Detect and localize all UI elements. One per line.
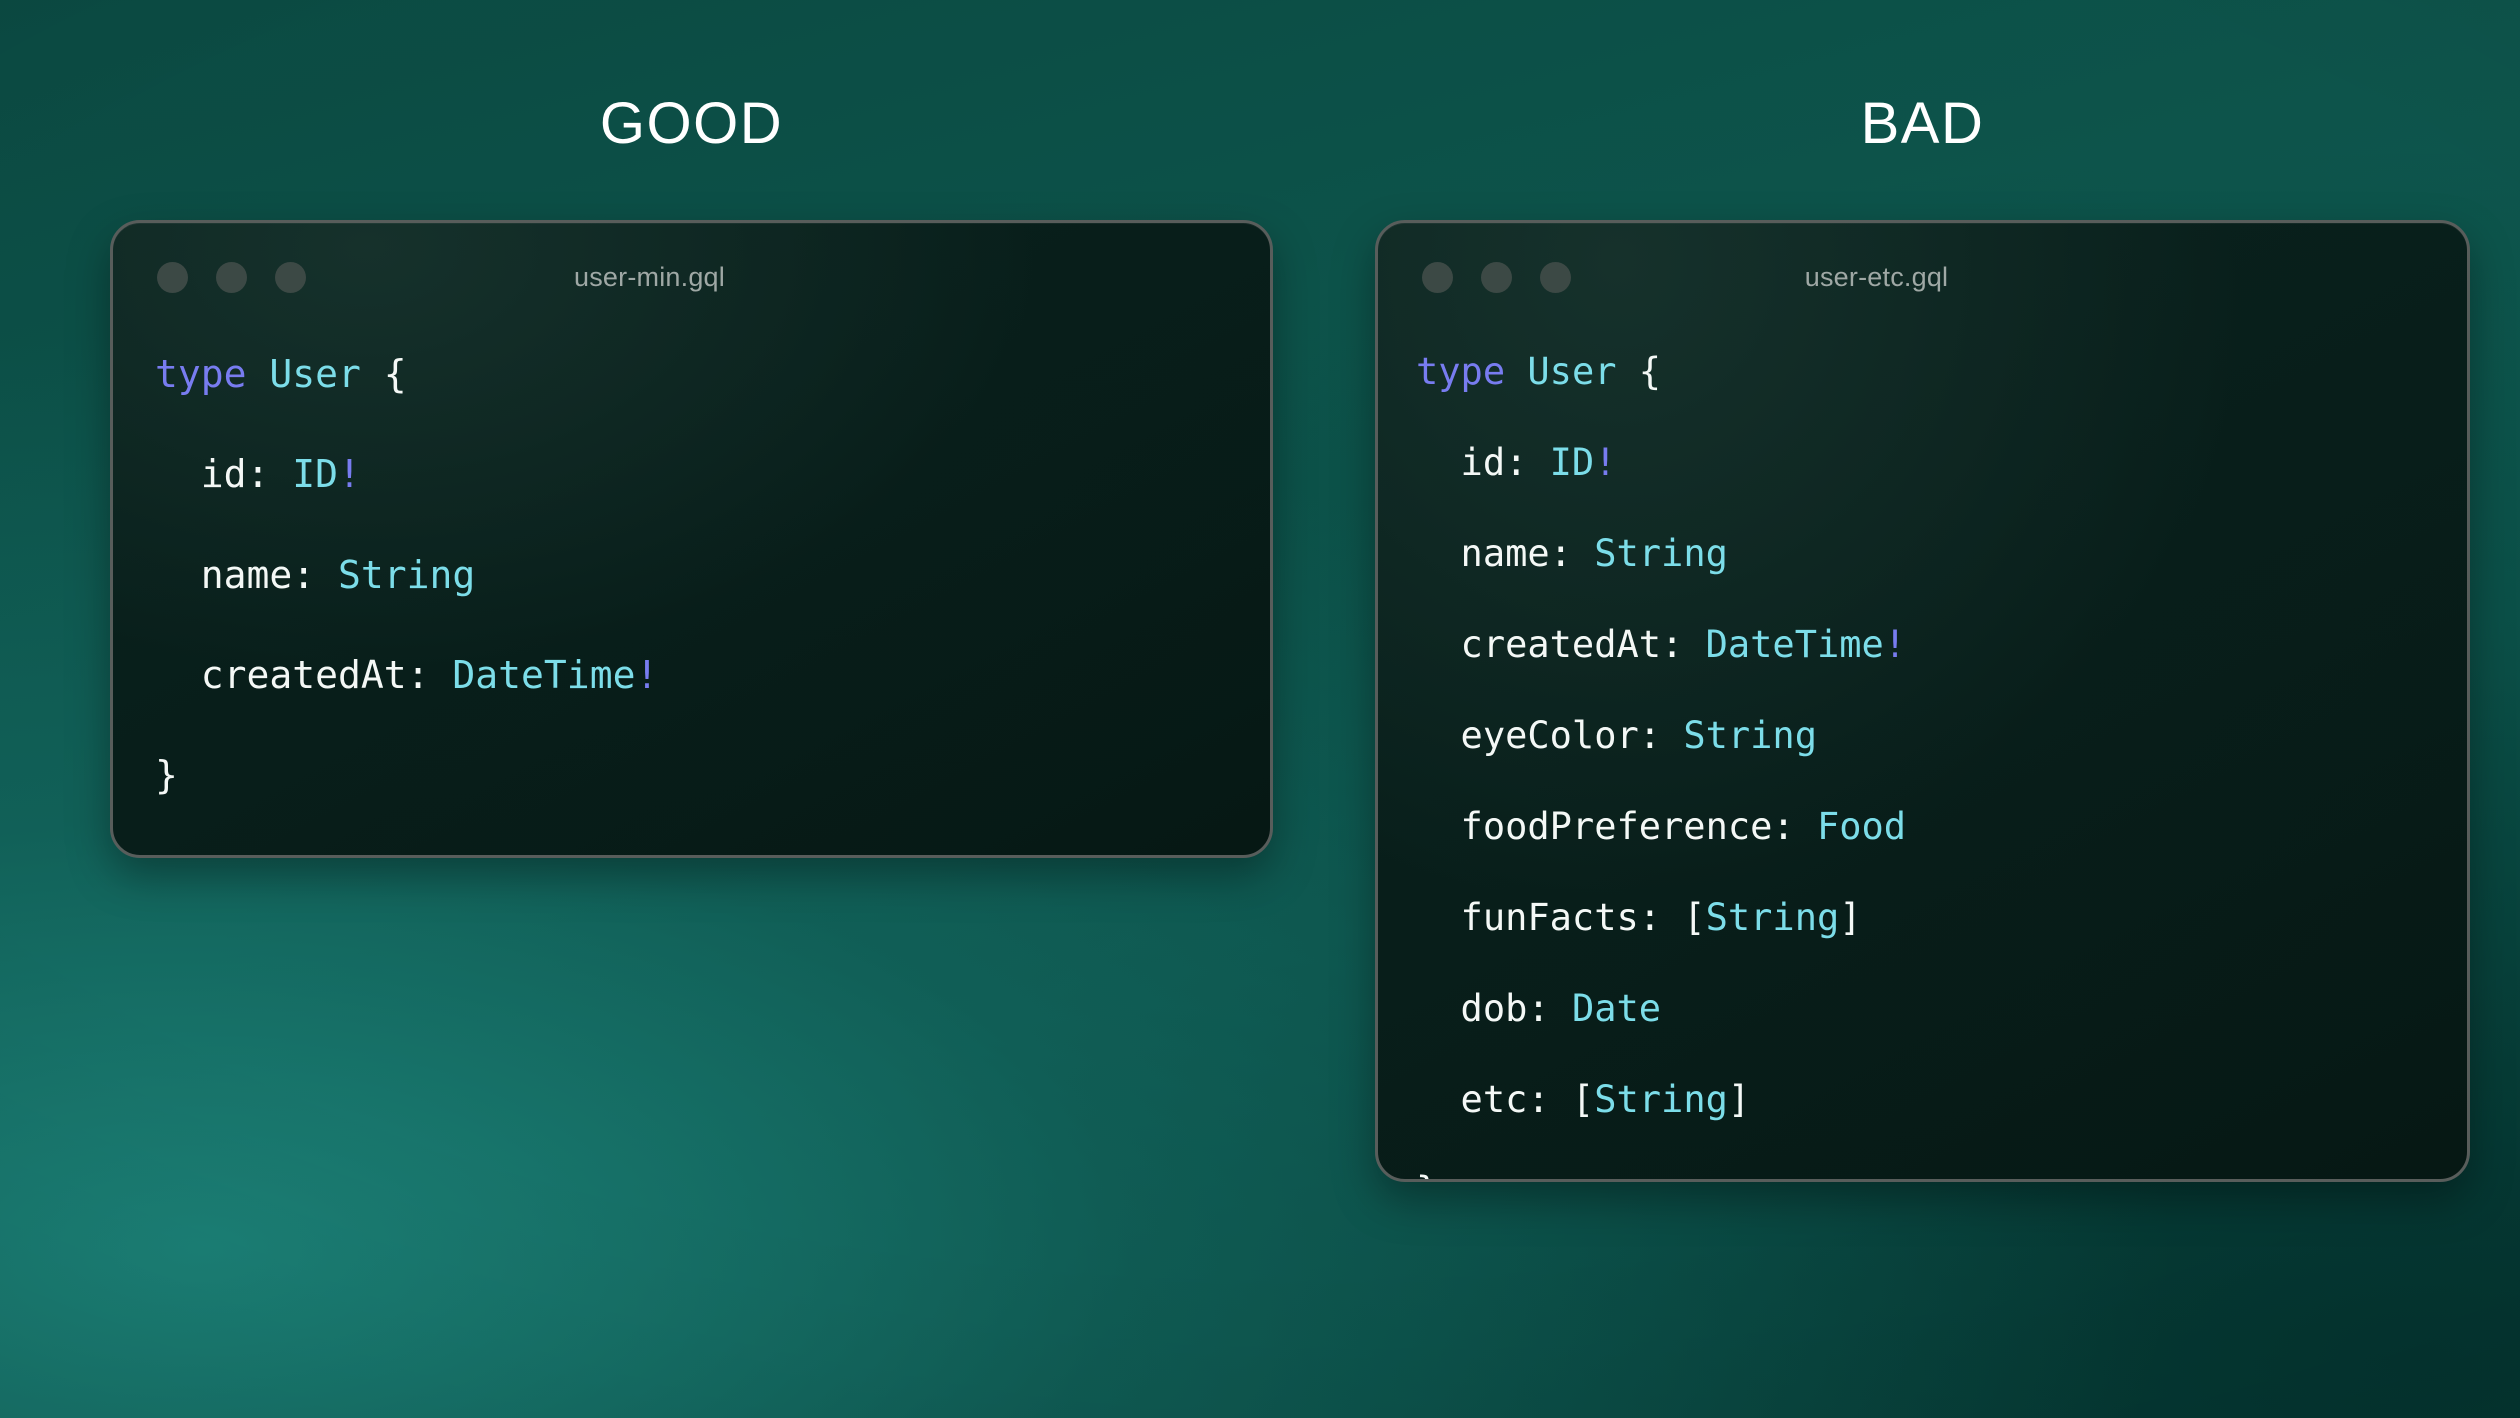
minimize-dot-icon[interactable] [1481, 262, 1512, 293]
code-token-plain: dob: [1416, 987, 1572, 1030]
window-titlebar: user-etc.gql [1378, 223, 2467, 331]
code-block-good: type User { id: ID! name: String created… [113, 331, 1270, 800]
code-token-type: String [1594, 532, 1728, 575]
close-dot-icon[interactable] [1422, 262, 1453, 293]
code-token-kw: type [155, 352, 269, 396]
code-line: funFacts: [String] [1416, 895, 2467, 941]
code-token-plain: } [155, 753, 178, 797]
code-line: } [1416, 1168, 2467, 1182]
code-token-type: DateTime [1706, 623, 1884, 666]
code-token-kw: ! [635, 653, 658, 697]
code-window-bad: user-etc.gql type User { id: ID! name: S… [1375, 220, 2470, 1182]
code-token-type: Food [1817, 805, 1906, 848]
traffic-light-dots [1422, 262, 1571, 293]
code-token-kw: type [1416, 350, 1527, 393]
code-block-bad: type User { id: ID! name: String created… [1378, 331, 2467, 1182]
window-titlebar: user-min.gql [113, 223, 1270, 331]
code-token-kw: ! [338, 452, 361, 496]
code-token-plain: name: [1416, 532, 1594, 575]
code-line: dob: Date [1416, 986, 2467, 1032]
code-line: name: String [155, 550, 1270, 600]
code-token-type: String [338, 553, 475, 597]
code-token-type: Date [1572, 987, 1661, 1030]
code-line: etc: [String] [1416, 1077, 2467, 1123]
column-heading-bad: BAD [1375, 95, 2470, 153]
column-heading-good: GOOD [110, 95, 1273, 153]
code-token-plain: funFacts: [ [1416, 896, 1706, 939]
code-token-plain: name: [155, 553, 338, 597]
code-token-plain: foodPreference: [1416, 805, 1817, 848]
code-line: id: ID! [155, 449, 1270, 499]
code-line: foodPreference: Food [1416, 804, 2467, 850]
code-line: type User { [1416, 349, 2467, 395]
code-token-kw: ! [1884, 623, 1906, 666]
code-token-type: String [1706, 896, 1840, 939]
code-token-type: User [1527, 350, 1616, 393]
code-token-type: String [1683, 714, 1817, 757]
code-token-type: String [1594, 1078, 1728, 1121]
code-token-plain: id: [1416, 441, 1550, 484]
code-token-kw: ! [1594, 441, 1616, 484]
code-token-type: User [269, 352, 361, 396]
code-token-plain: } [1416, 1169, 1438, 1182]
code-token-type: ID [292, 452, 338, 496]
code-token-plain: createdAt: [155, 653, 452, 697]
code-line: } [155, 750, 1270, 800]
close-dot-icon[interactable] [157, 262, 188, 293]
code-line: createdAt: DateTime! [1416, 622, 2467, 668]
code-token-plain: etc: [ [1416, 1078, 1594, 1121]
code-token-plain: ] [1728, 1078, 1750, 1121]
code-line: eyeColor: String [1416, 713, 2467, 759]
code-token-plain: { [361, 352, 407, 396]
code-line: name: String [1416, 531, 2467, 577]
code-line: type User { [155, 349, 1270, 399]
code-token-type: DateTime [452, 653, 635, 697]
minimize-dot-icon[interactable] [216, 262, 247, 293]
code-token-plain: { [1617, 350, 1662, 393]
code-token-plain: ] [1839, 896, 1861, 939]
code-token-plain: id: [155, 452, 292, 496]
code-window-good: user-min.gql type User { id: ID! name: S… [110, 220, 1273, 858]
maximize-dot-icon[interactable] [1540, 262, 1571, 293]
code-line: createdAt: DateTime! [155, 650, 1270, 700]
slide-canvas: GOOD BAD user-min.gql type User { id: ID… [0, 0, 2520, 1418]
code-token-type: ID [1550, 441, 1595, 484]
maximize-dot-icon[interactable] [275, 262, 306, 293]
code-token-plain: createdAt: [1416, 623, 1706, 666]
code-line: id: ID! [1416, 440, 2467, 486]
code-token-plain: eyeColor: [1416, 714, 1683, 757]
traffic-light-dots [157, 262, 306, 293]
